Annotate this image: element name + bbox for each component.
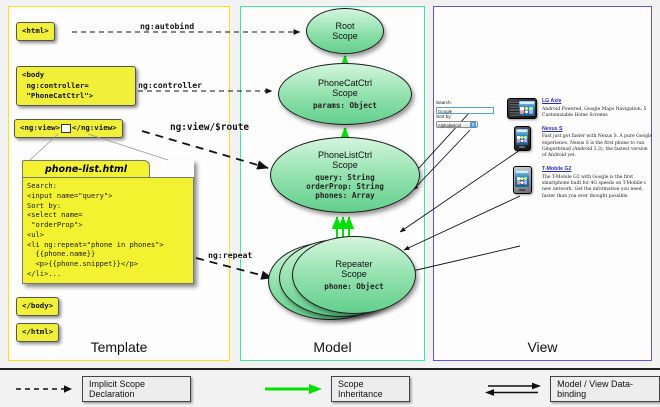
scope-root-name: RootScope <box>332 21 358 41</box>
legend-label-inheritance: Scope Inheritance <box>331 376 410 402</box>
phone-list: LG Axis Android Powered, Google Maps Nav… <box>505 98 653 206</box>
legend-label-databinding: Model / View Data-binding <box>550 376 660 402</box>
home-button-icon <box>519 146 525 148</box>
code-card-source: Search: <input name="query"> Sort by: <s… <box>22 177 194 284</box>
scope-phonelistctrl-props: query: StringorderProp: Stringphones: Ar… <box>306 173 384 201</box>
search-label: Search: <box>436 100 498 107</box>
chevron-down-icon: ⇅ <box>470 122 476 128</box>
phone-name-link[interactable]: Nexus S <box>542 126 653 133</box>
phone-screen <box>516 129 528 145</box>
edge-label-repeat: ng:repeat <box>208 250 252 260</box>
code-card-filename: phone-list.html <box>22 160 150 177</box>
legend-item-inheritance: Scope Inheritance <box>263 376 410 402</box>
tag-body-close: </body> <box>16 297 59 316</box>
legend-item-implicit: Implicit Scope Declaration <box>14 376 191 402</box>
diagram-canvas: Template Model View <box>0 0 660 405</box>
scope-repeater-name: RepeaterScope <box>335 259 372 279</box>
legend: Implicit Scope Declaration Scope Inherit… <box>0 368 660 407</box>
edge-label-ngview: ng:view/$route <box>170 122 249 133</box>
phone-name-link[interactable]: LG Axis <box>542 98 653 105</box>
phone-snippet: Fast just got faster with Nexus S. A pur… <box>542 134 653 160</box>
keyboard-icon <box>510 101 520 115</box>
tag-ngview-close: </ng:view> <box>72 123 117 132</box>
list-item[interactable]: LG Axis Android Powered, Google Maps Nav… <box>505 98 653 120</box>
scope-phonecatctrl-props: params: Object <box>313 101 377 110</box>
tag-ngview-open: <ng:view> <box>20 123 60 132</box>
tag-html-open: <html> <box>16 22 55 41</box>
list-item[interactable]: T-Mobile G2 The T-Mobile G2 with Google … <box>505 166 653 200</box>
solid-arrow-icon <box>263 382 325 396</box>
dashed-arrow-icon <box>14 382 76 396</box>
phone-image-icon <box>513 166 532 194</box>
sort-select[interactable]: Alphabetical⇅ <box>436 121 478 129</box>
phone-details: LG Axis Android Powered, Google Maps Nav… <box>539 98 653 120</box>
scope-phonelistctrl: PhoneListCtrlScope query: StringorderPro… <box>270 137 420 213</box>
phone-thumbnail <box>505 126 539 160</box>
scope-root: RootScope <box>306 8 384 54</box>
view-search-form: Search: Google Sort by: Alphabetical⇅ <box>436 100 498 128</box>
phone-screen <box>515 170 529 187</box>
phone-image-icon <box>514 126 531 151</box>
tag-html-close: </html> <box>16 323 59 342</box>
phone-snippet: Android Powered, Google Maps Navigation,… <box>542 107 653 120</box>
tag-body-open: <body ng:controller= "PhoneCatCtrl"> <box>16 66 136 106</box>
scope-phonecatctrl: PhoneCatCtrlScope params: Object <box>278 63 412 125</box>
scope-repeater-stack: RepeaterScope phone: Object <box>268 236 420 320</box>
phone-details: Nexus S Fast just got faster with Nexus … <box>539 126 653 160</box>
ngview-slot-icon <box>61 124 71 133</box>
column-title-view: View <box>434 339 651 355</box>
column-title-model: Model <box>241 339 424 355</box>
scope-phonelistctrl-name: PhoneListCtrlScope <box>318 150 372 170</box>
phone-thumbnail <box>505 98 539 120</box>
phone-snippet: The T-Mobile G2 with Google is the first… <box>542 175 653 201</box>
phone-thumbnail <box>505 166 539 200</box>
search-input[interactable]: Google <box>436 107 494 114</box>
edge-label-autobind: ng:autobind <box>140 21 194 31</box>
code-card-phone-list: phone-list.html Search: <input name="que… <box>22 160 194 284</box>
phone-screen <box>519 101 535 117</box>
sort-label: Sort by: <box>436 114 498 121</box>
tag-ngview: <ng:view></ng:view> <box>14 119 123 138</box>
phone-details: T-Mobile G2 The T-Mobile G2 with Google … <box>539 166 653 200</box>
phone-image-icon <box>507 98 537 119</box>
legend-label-implicit: Implicit Scope Declaration <box>82 376 191 402</box>
edge-label-controller: ng:controller <box>138 80 202 90</box>
phone-name-link[interactable]: T-Mobile G2 <box>542 166 653 173</box>
legend-item-databinding: Model / View Data-binding <box>482 376 660 402</box>
scope-phonecatctrl-name: PhoneCatCtrlScope <box>318 78 372 98</box>
home-button-icon <box>519 189 526 191</box>
scope-repeater-props: phone: Object <box>324 282 383 291</box>
sort-select-value: Alphabetical <box>438 123 461 128</box>
list-item[interactable]: Nexus S Fast just got faster with Nexus … <box>505 126 653 160</box>
double-arrow-icon <box>482 382 544 396</box>
scope-repeater: RepeaterScope phone: Object <box>292 236 416 314</box>
